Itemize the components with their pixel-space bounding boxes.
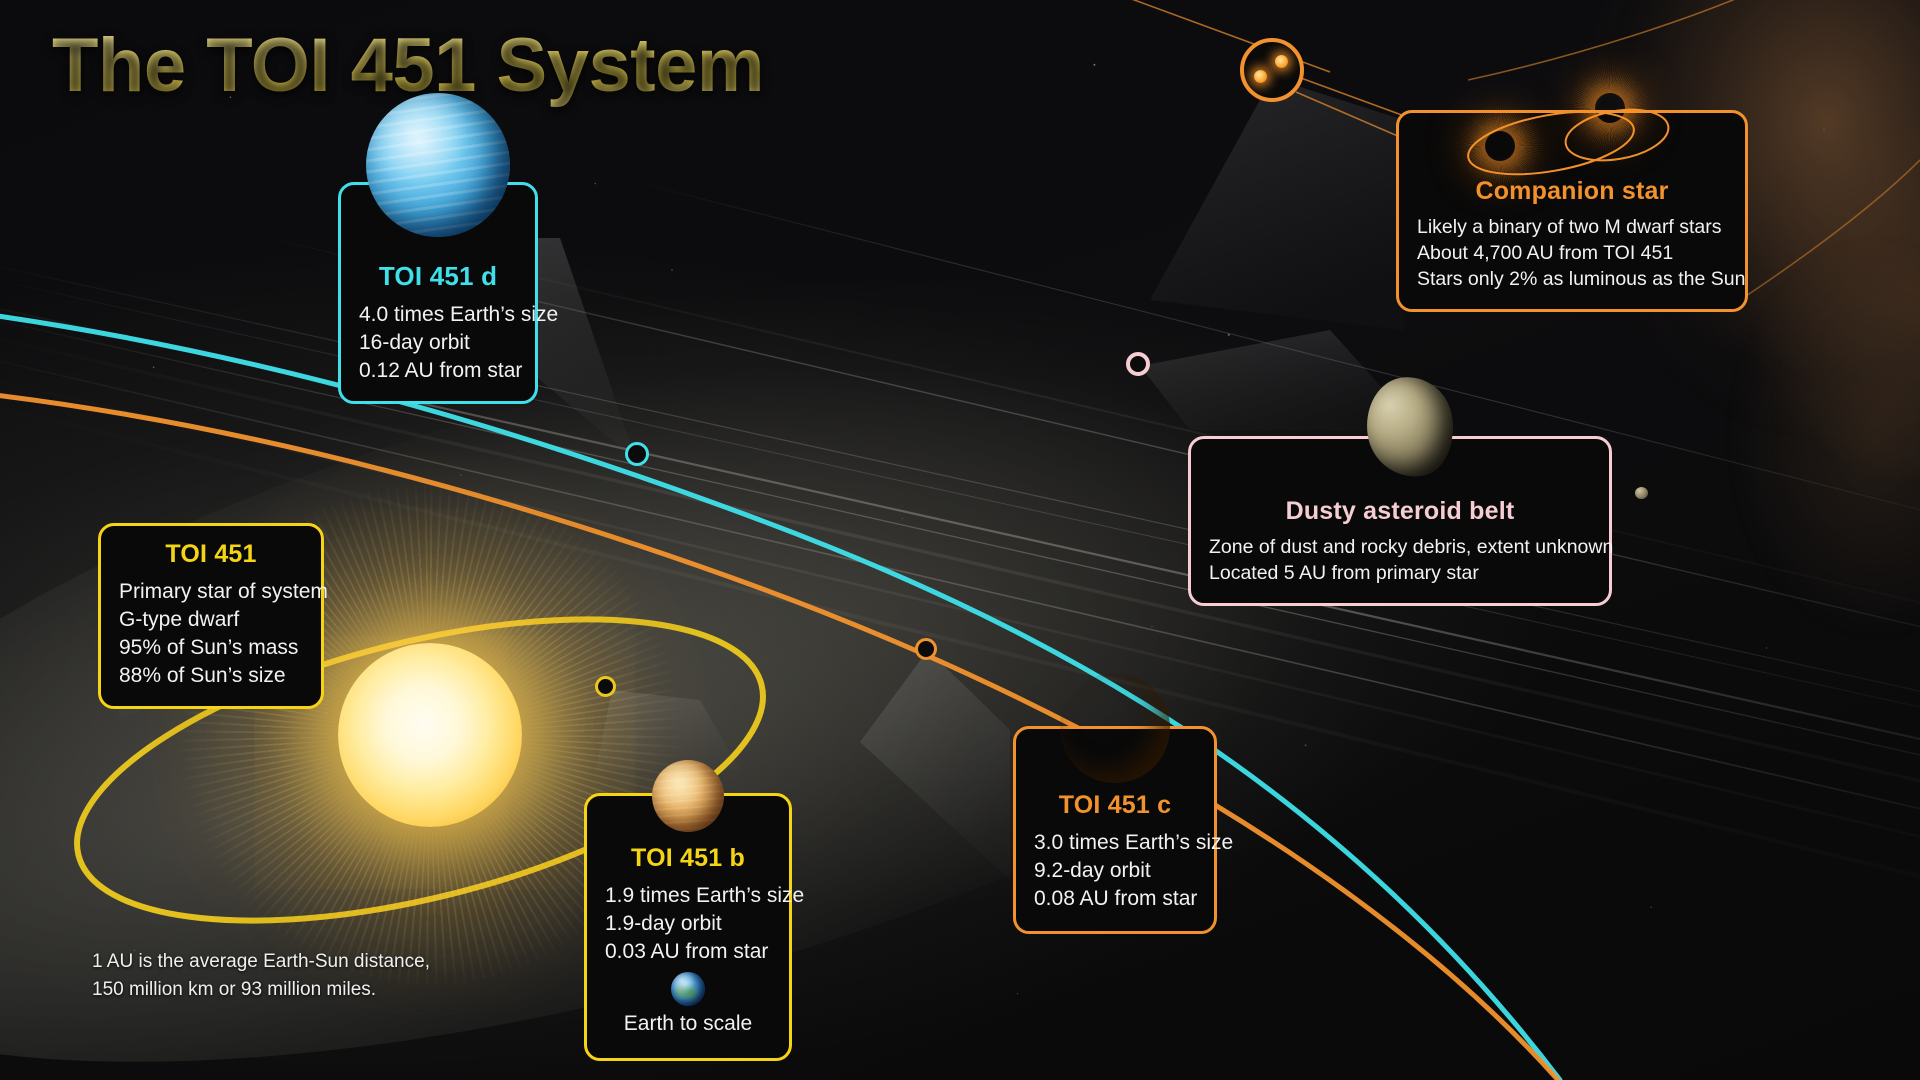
companion-star-a-icon: [1485, 131, 1515, 161]
marker-planet-d[interactable]: [625, 442, 649, 466]
card-line: 4.0 times Earth’s size: [359, 301, 517, 329]
golden-planet-icon: [1060, 673, 1170, 783]
card-line: 0.12 AU from star: [359, 357, 517, 385]
card-title-primary-star: TOI 451: [119, 540, 303, 569]
card-line: 16-day orbit: [359, 329, 517, 357]
companion-marker-star-b: [1275, 55, 1288, 68]
card-title-planet-c: TOI 451 c: [1034, 791, 1196, 820]
card-line: Zone of dust and rocky debris, extent un…: [1209, 535, 1591, 561]
card-line: Primary star of system: [119, 578, 303, 606]
card-title-planet-d: TOI 451 d: [359, 261, 517, 292]
card-line: 1.9-day orbit: [605, 910, 771, 938]
callout-card-planet-d[interactable]: TOI 451 d 4.0 times Earth’s size 16-day …: [338, 182, 538, 404]
card-line: 1.9 times Earth’s size: [605, 882, 771, 910]
callout-card-primary-star[interactable]: TOI 451 Primary star of system G-type dw…: [98, 523, 324, 709]
card-line: Stars only 2% as luminous as the Sun: [1417, 267, 1727, 293]
au-footnote-line-2: 150 million km or 93 million miles.: [92, 976, 430, 1004]
asteroid-speck-icon: [1635, 487, 1648, 499]
companion-star-b-icon: [1595, 93, 1625, 123]
callout-card-companion-star[interactable]: Companion star Likely a binary of two M …: [1396, 110, 1748, 312]
au-footnote: 1 AU is the average Earth-Sun distance, …: [92, 948, 430, 1003]
blue-neptune-planet-icon: [366, 93, 510, 237]
au-footnote-line-1: 1 AU is the average Earth-Sun distance,: [92, 948, 430, 976]
callout-card-asteroid-belt[interactable]: Dusty asteroid belt Zone of dust and roc…: [1188, 436, 1612, 606]
earth-scale-label: Earth to scale: [605, 1010, 771, 1038]
card-line: 0.03 AU from star: [605, 938, 771, 966]
companion-connector-right: [1740, 160, 1920, 300]
card-line: 0.08 AU from star: [1034, 885, 1196, 913]
binary-star-pair-icon: [1399, 87, 1745, 183]
card-line: 95% of Sun’s mass: [119, 634, 303, 662]
companion-marker-star-a: [1254, 70, 1267, 83]
card-line: 88% of Sun’s size: [119, 662, 303, 690]
earth-globe-icon: [671, 972, 705, 1006]
marker-planet-c[interactable]: [915, 638, 937, 660]
tan-gas-planet-icon: [652, 760, 724, 832]
card-line: About 4,700 AU from TOI 451: [1417, 241, 1727, 267]
card-title-asteroid-belt: Dusty asteroid belt: [1209, 497, 1591, 526]
card-line: Located 5 AU from primary star: [1209, 561, 1591, 587]
card-line: G-type dwarf: [119, 606, 303, 634]
page-title: The TOI 451 System: [52, 22, 764, 109]
marker-planet-b[interactable]: [595, 676, 616, 697]
callout-card-planet-c[interactable]: TOI 451 c 3.0 times Earth’s size 9.2-day…: [1013, 726, 1217, 934]
infographic-canvas: The TOI 451 System TOI 451 d 4.0 times E…: [0, 0, 1920, 1080]
card-line: 9.2-day orbit: [1034, 857, 1196, 885]
marker-companion-star[interactable]: [1240, 38, 1304, 102]
callout-card-planet-b[interactable]: TOI 451 b 1.9 times Earth’s size 1.9-day…: [584, 793, 792, 1061]
card-line: 3.0 times Earth’s size: [1034, 829, 1196, 857]
card-line: Likely a binary of two M dwarf stars: [1417, 215, 1727, 241]
marker-asteroid-belt[interactable]: [1126, 352, 1150, 376]
card-title-planet-b: TOI 451 b: [605, 844, 771, 873]
